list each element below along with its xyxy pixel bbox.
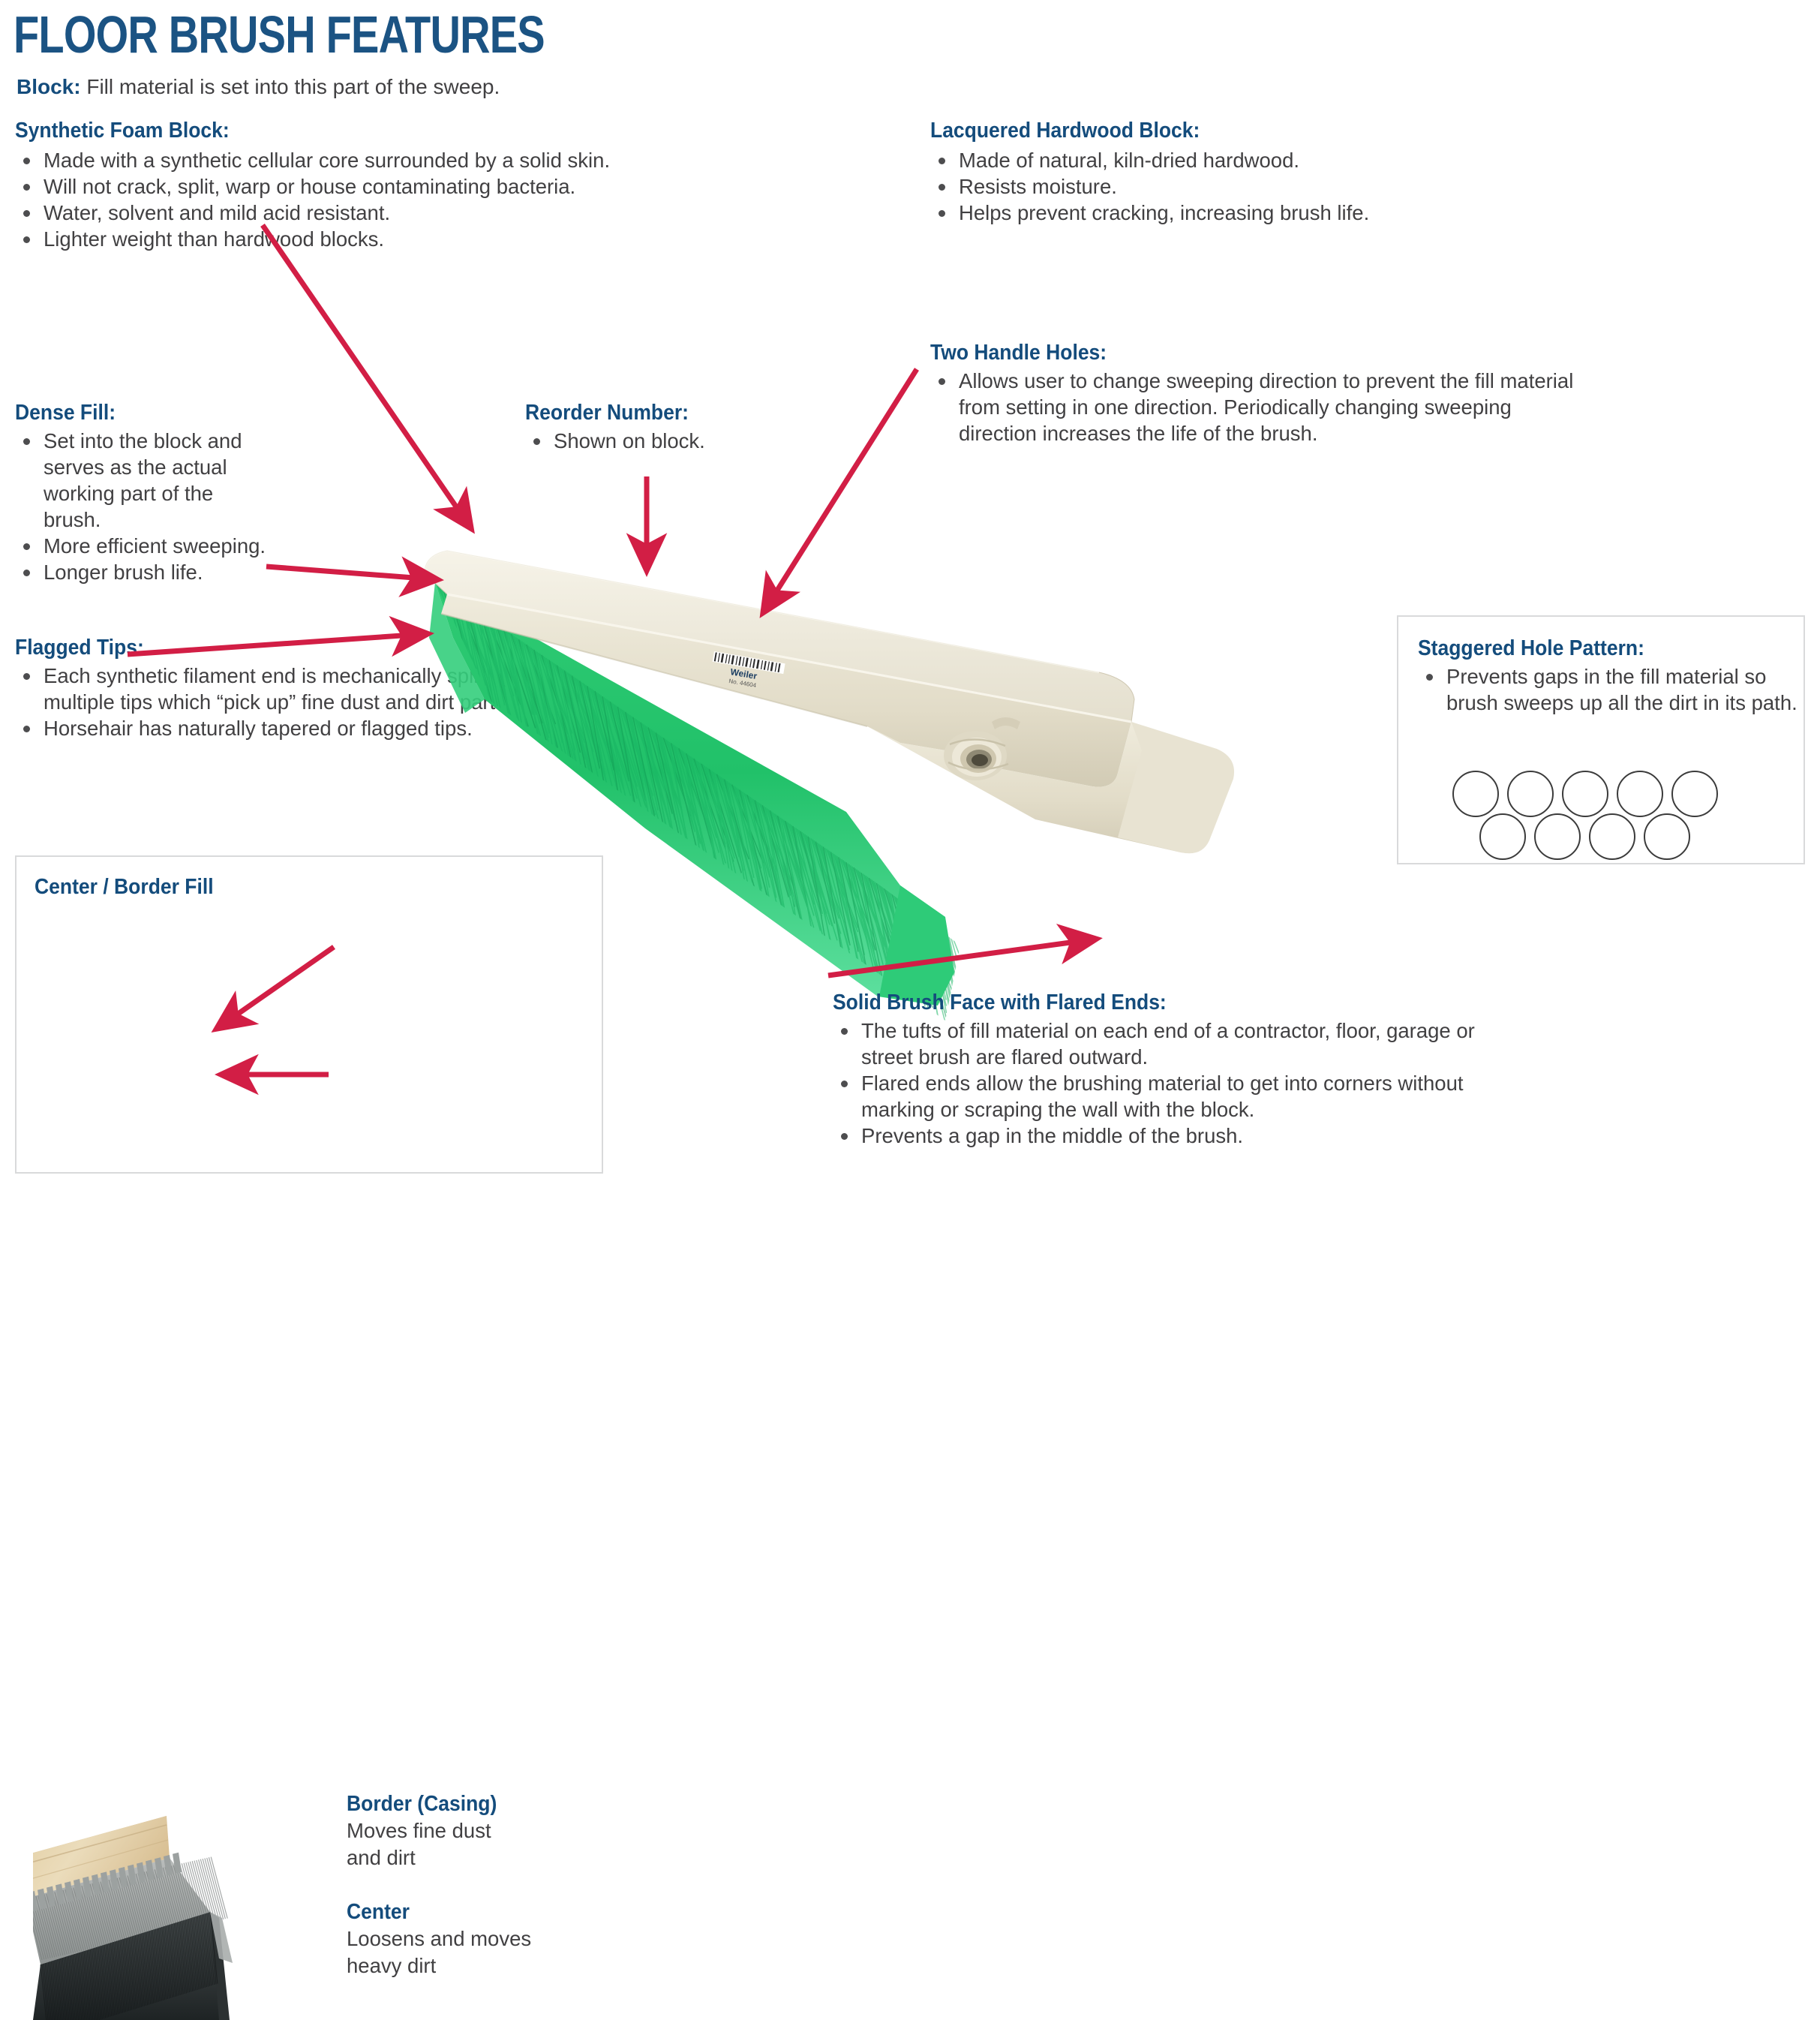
section-lacquered-hardwood-block: Lacquered Hardwood Block: Made of natura… <box>930 117 1545 226</box>
two-handle-holes-bullets: Allows user to change sweeping direction… <box>930 368 1590 446</box>
block-lead-label: Block: <box>17 75 81 98</box>
list-item: Shown on block. <box>525 428 825 454</box>
center-border-fill-heading: Center / Border Fill <box>35 873 214 900</box>
dense-fill-heading: Dense Fill: <box>15 399 245 426</box>
hole-bottom-3 <box>1589 813 1635 860</box>
page-title: FLOOR BRUSH FEATURES <box>14 5 545 65</box>
hole-top-5 <box>1671 771 1718 817</box>
hole-top-3 <box>1562 771 1608 817</box>
solid-brush-face-heading: Solid Brush Face with Flared Ends: <box>833 989 1503 1016</box>
list-item: Will not crack, split, warp or house con… <box>15 173 555 200</box>
section-reorder-number: Reorder Number: Shown on block. <box>525 399 825 454</box>
hole-bottom-2 <box>1534 813 1581 860</box>
hole-bottom-4 <box>1644 813 1690 860</box>
list-item: Helps prevent cracking, increasing brush… <box>930 200 1545 226</box>
staggered-hole-pattern-box: Staggered Hole Pattern: Prevents gaps in… <box>1397 615 1805 864</box>
center-line-1: Loosens and moves <box>347 1925 587 1952</box>
list-item: Water, solvent and mild acid resistant. <box>15 200 555 226</box>
hole-top-2 <box>1507 771 1554 817</box>
arrow-synthetic-foam-block <box>263 225 469 525</box>
reorder-number-heading: Reorder Number: <box>525 399 804 426</box>
staggered-hole-pattern-bullets: Prevents gaps in the fill material so br… <box>1418 663 1784 716</box>
center-border-fill-box: Center / Border Fill <box>15 855 603 1174</box>
callout-border-casing: Border (Casing) Moves fine dust and dirt <box>347 1790 587 1871</box>
list-item: Made of natural, kiln-dried hardwood. <box>930 147 1545 173</box>
center-line-2: heavy dirt <box>347 1952 587 1979</box>
section-solid-brush-face: Solid Brush Face with Flared Ends: The t… <box>833 989 1553 1149</box>
center-heading: Center <box>347 1898 570 1925</box>
block-lead-text: Block: Fill material is set into this pa… <box>17 74 500 101</box>
hole-top-4 <box>1617 771 1663 817</box>
synthetic-foam-block-heading: Synthetic Foam Block: <box>15 117 518 144</box>
two-handle-holes-heading: Two Handle Holes: <box>930 339 1544 366</box>
reorder-number-bullets: Shown on block. <box>525 428 825 454</box>
hole-top-1 <box>1452 771 1499 817</box>
border-casing-heading: Border (Casing) <box>347 1790 570 1817</box>
lacquered-hardwood-block-heading: Lacquered Hardwood Block: <box>930 117 1503 144</box>
list-item: Prevents a gap in the middle of the brus… <box>833 1123 1553 1149</box>
hole-bottom-1 <box>1479 813 1526 860</box>
list-item: Made with a synthetic cellular core surr… <box>15 147 555 173</box>
section-dense-fill: Dense Fill: Set into the block and serve… <box>15 399 263 585</box>
solid-brush-face-bullets: The tufts of fill material on each end o… <box>833 1018 1553 1149</box>
section-two-handle-holes: Two Handle Holes: Allows user to change … <box>930 339 1590 446</box>
list-item: More efficient sweeping. <box>15 533 263 559</box>
list-item: Longer brush life. <box>15 559 263 585</box>
synthetic-foam-block-bullets: Made with a synthetic cellular core surr… <box>15 147 555 252</box>
list-item: Lighter weight than hardwood blocks. <box>15 226 555 252</box>
list-item: Resists moisture. <box>930 173 1545 200</box>
staggered-hole-pattern-heading: Staggered Hole Pattern: <box>1418 635 1758 662</box>
border-casing-line-1: Moves fine dust <box>347 1817 587 1844</box>
dense-fill-bullets: Set into the block and serves as the act… <box>15 428 263 585</box>
staggered-hole-diagram <box>1398 767 1803 863</box>
list-item: The tufts of fill material on each end o… <box>833 1018 1521 1070</box>
arrow-dense-fill <box>266 567 434 579</box>
list-item: Flared ends allow the brushing material … <box>833 1070 1536 1123</box>
block-lead-body: Fill material is set into this part of t… <box>81 75 500 98</box>
list-item: Allows user to change sweeping direction… <box>930 368 1590 446</box>
center-border-fill-photo <box>33 1786 386 2020</box>
border-casing-line-2: and dirt <box>347 1844 587 1871</box>
list-item: Prevents gaps in the fill material so br… <box>1418 663 1799 716</box>
lacquered-hardwood-block-bullets: Made of natural, kiln-dried hardwood. Re… <box>930 147 1545 226</box>
list-item: Set into the block and serves as the act… <box>15 428 263 533</box>
section-synthetic-foam-block: Synthetic Foam Block: Made with a synthe… <box>15 117 555 252</box>
callout-center: Center Loosens and moves heavy dirt <box>347 1898 587 1979</box>
